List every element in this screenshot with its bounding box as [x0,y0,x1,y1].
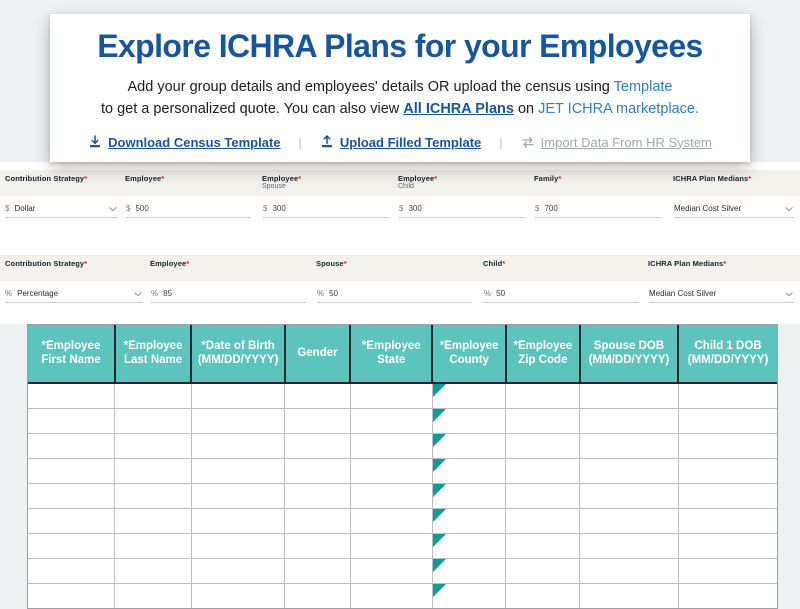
column-header-employee-zip-code[interactable]: *Employee Zip Code [506,325,580,383]
chevron-down-icon [785,206,792,210]
action-separator-1: | [281,135,320,150]
table-cell-county-validated[interactable] [432,484,505,509]
table-cell[interactable] [191,459,285,484]
dollar-row-labels: Contribution Strategy* Employee* Employe… [0,170,800,196]
chevron-down-icon [109,206,116,210]
table-cell[interactable] [28,509,115,534]
label-family: Family* [534,170,644,196]
action-separator-2: | [481,135,520,150]
table-row [28,434,777,459]
child-percent-input[interactable]: % 50 [484,285,639,303]
table-cell[interactable] [580,434,678,459]
table-cell-county-validated[interactable] [432,584,505,609]
table-cell[interactable] [506,534,580,559]
table-cell[interactable] [115,509,191,534]
table-cell[interactable] [350,383,432,409]
table-cell[interactable] [191,383,285,409]
table-cell[interactable] [28,459,115,484]
chevron-down-icon [785,291,792,295]
census-header-row: *Employee First Name *Employee Last Name… [28,325,777,383]
table-cell[interactable] [580,584,678,609]
import-data-from-hr-system-link[interactable]: Import Data From HR System [521,135,712,150]
table-row [28,484,777,509]
table-cell[interactable] [506,409,580,434]
hero-subtitle-line-2: to get a personalized quote. You can als… [70,98,730,120]
required-marker: * [298,174,301,183]
table-row [28,584,777,609]
column-header-date-of-birth[interactable]: *Date of Birth (MM/DD/YYYY) [191,325,285,383]
download-icon [88,135,102,149]
table-cell[interactable] [678,534,777,559]
table-cell-county-validated[interactable] [432,559,505,584]
upload-icon [320,135,334,149]
table-cell[interactable] [28,584,115,609]
all-ichra-plans-link[interactable]: All ICHRA Plans [403,101,514,117]
label-employee: Employee* [125,170,235,196]
field-value: 50 [496,289,505,298]
field-value: 300 [408,204,421,213]
label-text: Employee [150,259,186,268]
table-cell[interactable] [285,584,350,609]
table-cell-county-validated[interactable] [432,383,505,409]
required-marker: * [723,259,726,268]
table-row [28,383,777,409]
employee-percent-input[interactable]: % 85 [151,285,306,303]
label-text: Employee [125,174,161,183]
table-cell[interactable] [580,383,678,409]
table-cell[interactable] [28,559,115,584]
selected-value: Median Cost Silver [649,289,716,298]
currency-prefix: $ [5,204,9,213]
employee-child-amount-input[interactable]: $ 300 [399,200,524,218]
percentage-row-labels: Contribution Strategy* Employee* Spouse*… [0,255,800,281]
template-link[interactable]: Template [614,79,673,95]
label-text: Employee [398,174,434,183]
table-cell[interactable] [678,559,777,584]
table-cell[interactable] [506,434,580,459]
sublabel-text: Child [398,183,518,191]
hero-subtitle: Add your group details and employees' de… [70,76,730,121]
table-cell[interactable] [350,459,432,484]
table-cell[interactable] [350,509,432,534]
required-marker: * [558,174,561,183]
label-employee-2: Employee* [150,255,260,281]
table-cell[interactable] [28,484,115,509]
table-cell[interactable] [506,559,580,584]
field-value: 300 [272,204,285,213]
percent-prefix: % [151,289,158,298]
currency-prefix: $ [535,204,539,213]
table-cell[interactable] [285,434,350,459]
column-header-gender[interactable]: Gender [285,325,350,383]
column-header-employee-first-name[interactable]: *Employee First Name [28,325,115,383]
label-text: Child [483,259,502,268]
table-cell[interactable] [678,434,777,459]
table-cell[interactable] [678,584,777,609]
table-cell[interactable] [506,484,580,509]
required-marker: * [344,259,347,268]
import-data-from-hr-system-label: Import Data From HR System [541,135,712,150]
currency-prefix: $ [399,204,403,213]
selected-value: Dollar [14,204,35,213]
table-cell[interactable] [115,409,191,434]
download-census-template-label: Download Census Template [108,135,280,150]
column-header-spouse-dob[interactable]: Spouse DOB (MM/DD/YYYY) [580,325,678,383]
table-row [28,459,777,484]
table-cell[interactable] [285,459,350,484]
table-cell[interactable] [580,409,678,434]
contribution-row-percentage: Contribution Strategy* Employee* Spouse*… [0,255,800,307]
contribution-row-dollar: Contribution Strategy* Employee* Employe… [0,170,800,222]
contribution-strategy-select[interactable]: $ Dollar [5,200,118,218]
field-value: 500 [135,204,148,213]
label-ichra-plan-medians: ICHRA Plan Medians* [673,170,800,196]
ichra-quote-page: Explore ICHRA Plans for your Employees A… [0,0,800,600]
page-title: Explore ICHRA Plans for your Employees [70,30,730,64]
table-cell[interactable] [678,383,777,409]
hero-action-links: Download Census Template | Upload Filled… [70,135,730,150]
table-cell[interactable] [285,484,350,509]
table-cell[interactable] [506,584,580,609]
family-amount-input[interactable]: $ 700 [535,200,660,218]
table-cell[interactable] [678,459,777,484]
table-cell[interactable] [28,383,115,409]
table-row [28,509,777,534]
table-cell[interactable] [115,383,191,409]
table-cell[interactable] [115,559,191,584]
table-cell[interactable] [191,559,285,584]
table-cell-county-validated[interactable] [432,409,505,434]
table-cell[interactable] [350,484,432,509]
label-contribution-strategy-2: Contribution Strategy* [5,255,115,281]
jet-marketplace-text: JET ICHRA marketplace. [538,101,699,117]
hero-card: Explore ICHRA Plans for your Employees A… [50,14,750,162]
table-cell[interactable] [115,434,191,459]
table-cell[interactable] [191,434,285,459]
table-cell[interactable] [506,509,580,534]
dollar-row-inputs: $ Dollar $ 500 $ 300 $ 300 $ 700 [0,196,800,222]
label-text: ICHRA Plan Medians [648,259,723,268]
table-cell-county-validated[interactable] [432,434,505,459]
table-cell[interactable] [506,459,580,484]
required-marker: * [84,174,87,183]
label-child: Child* [483,255,593,281]
label-spouse: Spouse* [316,255,426,281]
required-marker: * [186,259,189,268]
table-cell-county-validated[interactable] [432,534,505,559]
label-text: Family [534,174,558,183]
hero-line1-text: Add your group details and employees' de… [128,79,614,95]
table-cell[interactable] [678,409,777,434]
percentage-row-inputs: % Percentage % 85 % 50 % 50 Median Cost … [0,281,800,307]
table-row [28,534,777,559]
required-marker: * [161,174,164,183]
upload-filled-template-link[interactable]: Upload Filled Template [320,135,481,150]
label-text: Spouse [316,259,344,268]
label-contribution-strategy: Contribution Strategy* [5,170,115,196]
percent-prefix: % [317,289,324,298]
table-row [28,559,777,584]
table-cell[interactable] [28,534,115,559]
download-census-template-link[interactable]: Download Census Template [88,135,280,150]
column-header-employee-last-name[interactable]: *Employee Last Name [115,325,191,383]
field-value: 50 [329,289,338,298]
census-table-body [28,383,777,608]
field-value: 85 [163,289,172,298]
table-cell[interactable] [580,559,678,584]
hero-line2-text: to get a personalized quote. You can als… [101,101,403,117]
hero-line2-mid: on [514,101,538,117]
sublabel-text: Spouse [262,183,382,191]
spouse-percent-input[interactable]: % 50 [317,285,472,303]
table-cell[interactable] [28,409,115,434]
column-header-employee-county[interactable]: *Employee County [432,325,505,383]
table-cell[interactable] [191,484,285,509]
table-cell[interactable] [350,559,432,584]
table-cell[interactable] [285,509,350,534]
employee-amount-input[interactable]: $ 500 [126,200,251,218]
table-cell[interactable] [191,584,285,609]
table-cell[interactable] [580,484,678,509]
label-text: Employee [262,174,298,183]
table-cell[interactable] [285,409,350,434]
table-cell[interactable] [191,534,285,559]
table-cell[interactable] [28,434,115,459]
table-cell[interactable] [285,534,350,559]
required-marker: * [748,174,751,183]
required-marker: * [84,259,87,268]
table-cell[interactable] [506,383,580,409]
column-header-employee-state[interactable]: *Employee State [350,325,432,383]
ichra-plan-medians-select[interactable]: Median Cost Silver [674,200,794,218]
percent-prefix: % [5,289,12,298]
required-marker: * [502,259,505,268]
label-text: ICHRA Plan Medians [673,174,748,183]
table-cell[interactable] [285,559,350,584]
currency-prefix: $ [126,204,130,213]
field-value: 700 [544,204,557,213]
ichra-plan-medians-select-2[interactable]: Median Cost Silver [649,285,794,303]
table-cell[interactable] [191,409,285,434]
label-employee-child: Employee* Child [398,170,518,196]
label-text: Contribution Strategy [5,259,84,268]
currency-prefix: $ [263,204,267,213]
table-cell[interactable] [191,509,285,534]
table-cell[interactable] [678,484,777,509]
table-cell-county-validated[interactable] [432,509,505,534]
required-marker: * [434,174,437,183]
contribution-strategy-select-2[interactable]: % Percentage [5,285,143,303]
table-cell-county-validated[interactable] [432,459,505,484]
selected-value: Median Cost Silver [674,204,741,213]
table-cell[interactable] [580,509,678,534]
table-cell[interactable] [350,584,432,609]
column-header-child-1-dob[interactable]: Child 1 DOB (MM/DD/YYYY) [678,325,777,383]
upload-filled-template-label: Upload Filled Template [340,135,481,150]
table-cell[interactable] [350,409,432,434]
table-cell[interactable] [580,534,678,559]
table-cell[interactable] [350,434,432,459]
census-table: *Employee First Name *Employee Last Name… [28,325,777,608]
table-cell[interactable] [350,534,432,559]
table-row [28,409,777,434]
chevron-down-icon [134,291,141,295]
sync-arrows-icon [521,135,535,149]
table-cell[interactable] [115,534,191,559]
label-employee-spouse: Employee* Spouse [262,170,382,196]
label-text: Contribution Strategy [5,174,84,183]
employee-spouse-amount-input[interactable]: $ 300 [263,200,388,218]
table-cell[interactable] [285,383,350,409]
percent-prefix: % [484,289,491,298]
table-cell[interactable] [678,509,777,534]
selected-value: Percentage [17,289,58,298]
census-table-head: *Employee First Name *Employee Last Name… [28,325,777,383]
table-cell[interactable] [580,459,678,484]
table-cell[interactable] [115,459,191,484]
table-cell[interactable] [115,584,191,609]
label-ichra-plan-medians-2: ICHRA Plan Medians* [648,255,778,281]
table-cell[interactable] [115,484,191,509]
hero-subtitle-line-1: Add your group details and employees' de… [70,76,730,98]
census-table-container: *Employee First Name *Employee Last Name… [27,324,778,609]
